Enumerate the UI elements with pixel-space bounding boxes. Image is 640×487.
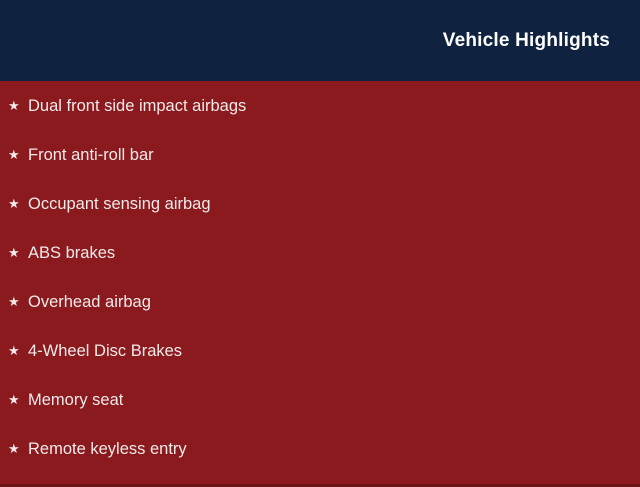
star-bullet-icon: ★	[8, 242, 28, 264]
star-bullet-icon: ★	[8, 291, 28, 313]
list-item: ★Dual front side impact airbags	[0, 95, 640, 144]
star-bullet-icon: ★	[8, 193, 28, 215]
highlight-label: Dual front side impact airbags	[28, 95, 640, 117]
highlight-label: 4-Wheel Disc Brakes	[28, 340, 640, 362]
star-bullet-icon: ★	[8, 438, 28, 460]
page-title: Vehicle Highlights	[443, 31, 610, 50]
star-bullet-icon: ★	[8, 340, 28, 362]
list-item: ★Front anti-roll bar	[0, 144, 640, 193]
highlights-panel: ★Dual front side impact airbags★Front an…	[0, 81, 640, 487]
highlight-label: ABS brakes	[28, 242, 640, 264]
list-item: ★Memory seat	[0, 389, 640, 438]
star-bullet-icon: ★	[8, 389, 28, 411]
vehicle-highlights-slide: Vehicle Highlights ★Dual front side impa…	[0, 0, 640, 480]
highlight-label: Front anti-roll bar	[28, 144, 640, 166]
star-bullet-icon: ★	[8, 95, 28, 117]
highlight-label: Overhead airbag	[28, 291, 640, 313]
highlight-label: Remote keyless entry	[28, 438, 640, 460]
slide-header: Vehicle Highlights	[0, 0, 640, 81]
list-item: ★ABS brakes	[0, 242, 640, 291]
highlight-label: Memory seat	[28, 389, 640, 411]
list-item: ★Overhead airbag	[0, 291, 640, 340]
list-item: ★Occupant sensing airbag	[0, 193, 640, 242]
highlights-list: ★Dual front side impact airbags★Front an…	[0, 95, 640, 487]
highlight-label: Occupant sensing airbag	[28, 193, 640, 215]
star-bullet-icon: ★	[8, 144, 28, 166]
list-item: ★4-Wheel Disc Brakes	[0, 340, 640, 389]
